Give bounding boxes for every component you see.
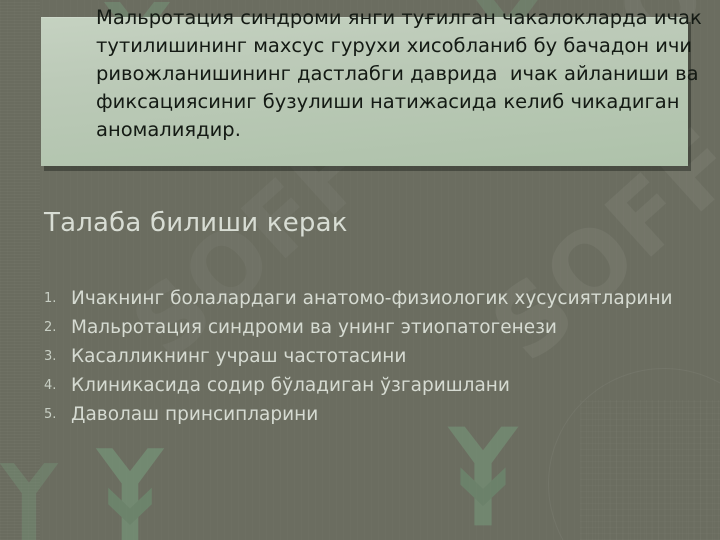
list-item-label: Касалликнинг учраш частотасини (71, 346, 406, 367)
list-item-number: 3. (44, 346, 66, 368)
list-item: 2. Мальротация синдроми ва унинг этиопат… (42, 313, 692, 342)
list-item: 4. Клиникасида содир бўладиган ўзгаришла… (42, 371, 692, 400)
background-left-stripes (0, 0, 40, 540)
presentation-slide: SOFF SOFF SOFF Мальротация синдроми янги… (0, 0, 720, 540)
list-item: 3. Касалликнинг учраш частотасини (42, 342, 692, 371)
list-item-number: 1. (44, 288, 66, 310)
objectives-list: 1. Ичакнинг болалардаги анатомо-физиолог… (42, 284, 692, 429)
definition-textbox: Мальротация синдроми янги туғилган чакал… (41, 17, 688, 166)
list-item: 5. Даволаш принсипларини (42, 400, 692, 429)
list-item-label: Даволаш принсипларини (71, 404, 318, 425)
list-item-number: 2. (44, 317, 66, 339)
list-item: 1. Ичакнинг болалардаги анатомо-физиолог… (42, 284, 692, 313)
watermark-y-logo-icon (0, 456, 64, 540)
list-item-number: 4. (44, 375, 66, 397)
list-item-label: Мальротация синдроми ва унинг этиопатоге… (71, 317, 557, 338)
list-item-label: Ичакнинг болалардаги анатомо-физиологик … (71, 288, 673, 309)
list-item-label: Клиникасида содир бўладиган ўзгаришлани (71, 375, 510, 396)
definition-text: Мальротация синдроми янги туғилган чакал… (96, 4, 720, 144)
list-item-number: 5. (44, 404, 66, 426)
page-title: Талаба билиши керак (44, 206, 348, 240)
watermark-y-logo-icon (440, 418, 526, 534)
watermark-y-logo-icon (88, 440, 172, 540)
